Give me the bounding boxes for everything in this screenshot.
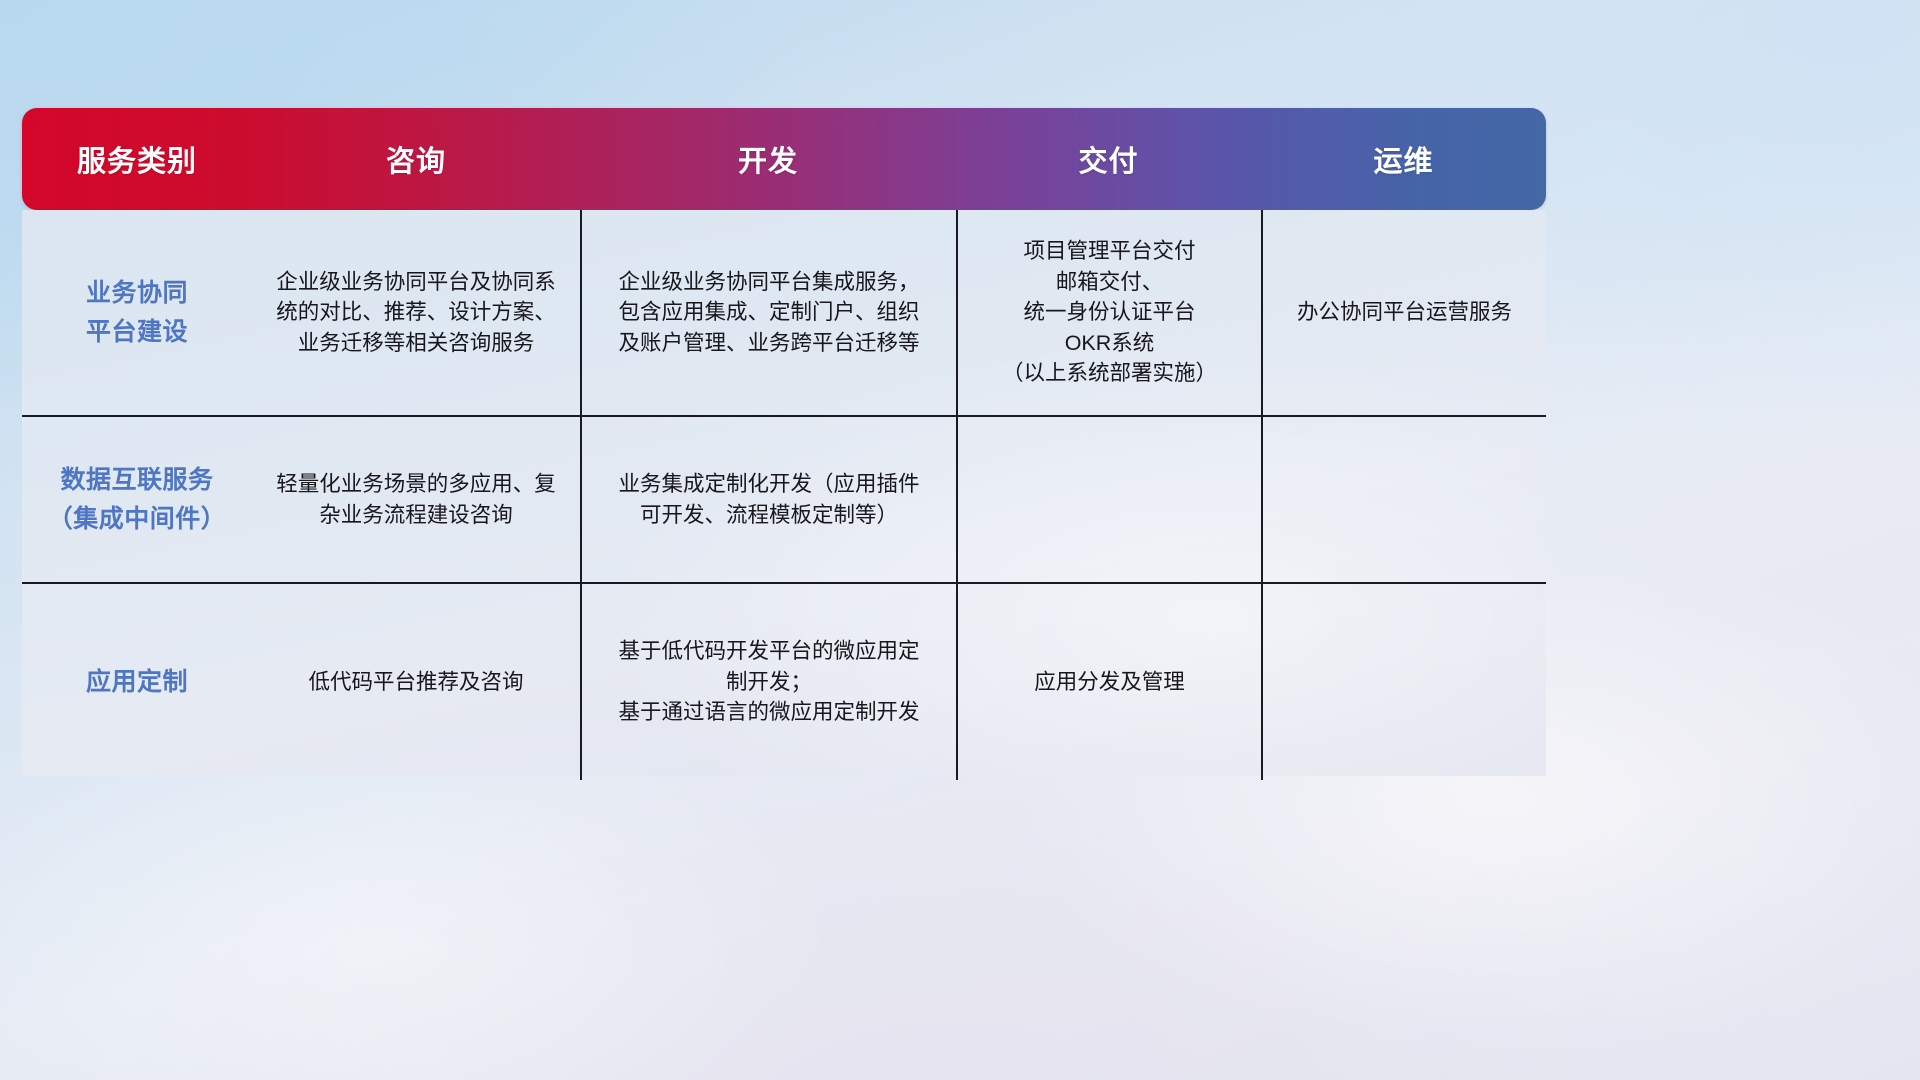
cell-development: 业务集成定制化开发（应用插件 可开发、流程模板定制等） — [580, 417, 956, 582]
cell-delivery: 项目管理平台交付 邮箱交付、 统一身份认证平台 OKR系统 （以上系统部署实施） — [956, 210, 1261, 415]
row-category-label: 数据互联服务 （集成中间件） — [22, 417, 252, 582]
service-matrix-table: 服务类别 咨询 开发 交付 运维 业务协同 平台建设 企业级业务协同平台及协同系… — [22, 108, 1546, 776]
cell-development: 基于低代码开发平台的微应用定 制开发； 基于通过语言的微应用定制开发 — [580, 584, 956, 780]
table-header-cell-development: 开发 — [580, 138, 956, 180]
table-row: 数据互联服务 （集成中间件） 轻量化业务场景的多应用、复 杂业务流程建设咨询 业… — [22, 417, 1546, 584]
cell-consulting: 低代码平台推荐及咨询 — [252, 584, 580, 780]
cell-operations — [1261, 417, 1546, 582]
table-header-cell-consulting: 咨询 — [252, 138, 580, 180]
row-category-label: 应用定制 — [22, 584, 252, 780]
table-header-cell-delivery: 交付 — [956, 138, 1261, 180]
table-body: 业务协同 平台建设 企业级业务协同平台及协同系 统的对比、推荐、设计方案、 业务… — [22, 210, 1546, 776]
cell-consulting: 企业级业务协同平台及协同系 统的对比、推荐、设计方案、 业务迁移等相关咨询服务 — [252, 210, 580, 415]
cell-delivery — [956, 417, 1261, 582]
cell-operations: 办公协同平台运营服务 — [1261, 210, 1546, 415]
row-category-label: 业务协同 平台建设 — [22, 210, 252, 415]
table-header-cell-category: 服务类别 — [22, 138, 252, 180]
table-header-cell-operations: 运维 — [1261, 138, 1546, 180]
table-header-row: 服务类别 咨询 开发 交付 运维 — [22, 108, 1546, 210]
cell-delivery: 应用分发及管理 — [956, 584, 1261, 780]
table-row: 应用定制 低代码平台推荐及咨询 基于低代码开发平台的微应用定 制开发； 基于通过… — [22, 584, 1546, 780]
table-row: 业务协同 平台建设 企业级业务协同平台及协同系 统的对比、推荐、设计方案、 业务… — [22, 210, 1546, 417]
slide-canvas: 服务类别 咨询 开发 交付 运维 业务协同 平台建设 企业级业务协同平台及协同系… — [0, 0, 1920, 1080]
cell-development: 企业级业务协同平台集成服务， 包含应用集成、定制门户、组织 及账户管理、业务跨平… — [580, 210, 956, 415]
cell-consulting: 轻量化业务场景的多应用、复 杂业务流程建设咨询 — [252, 417, 580, 582]
cell-operations — [1261, 584, 1546, 780]
